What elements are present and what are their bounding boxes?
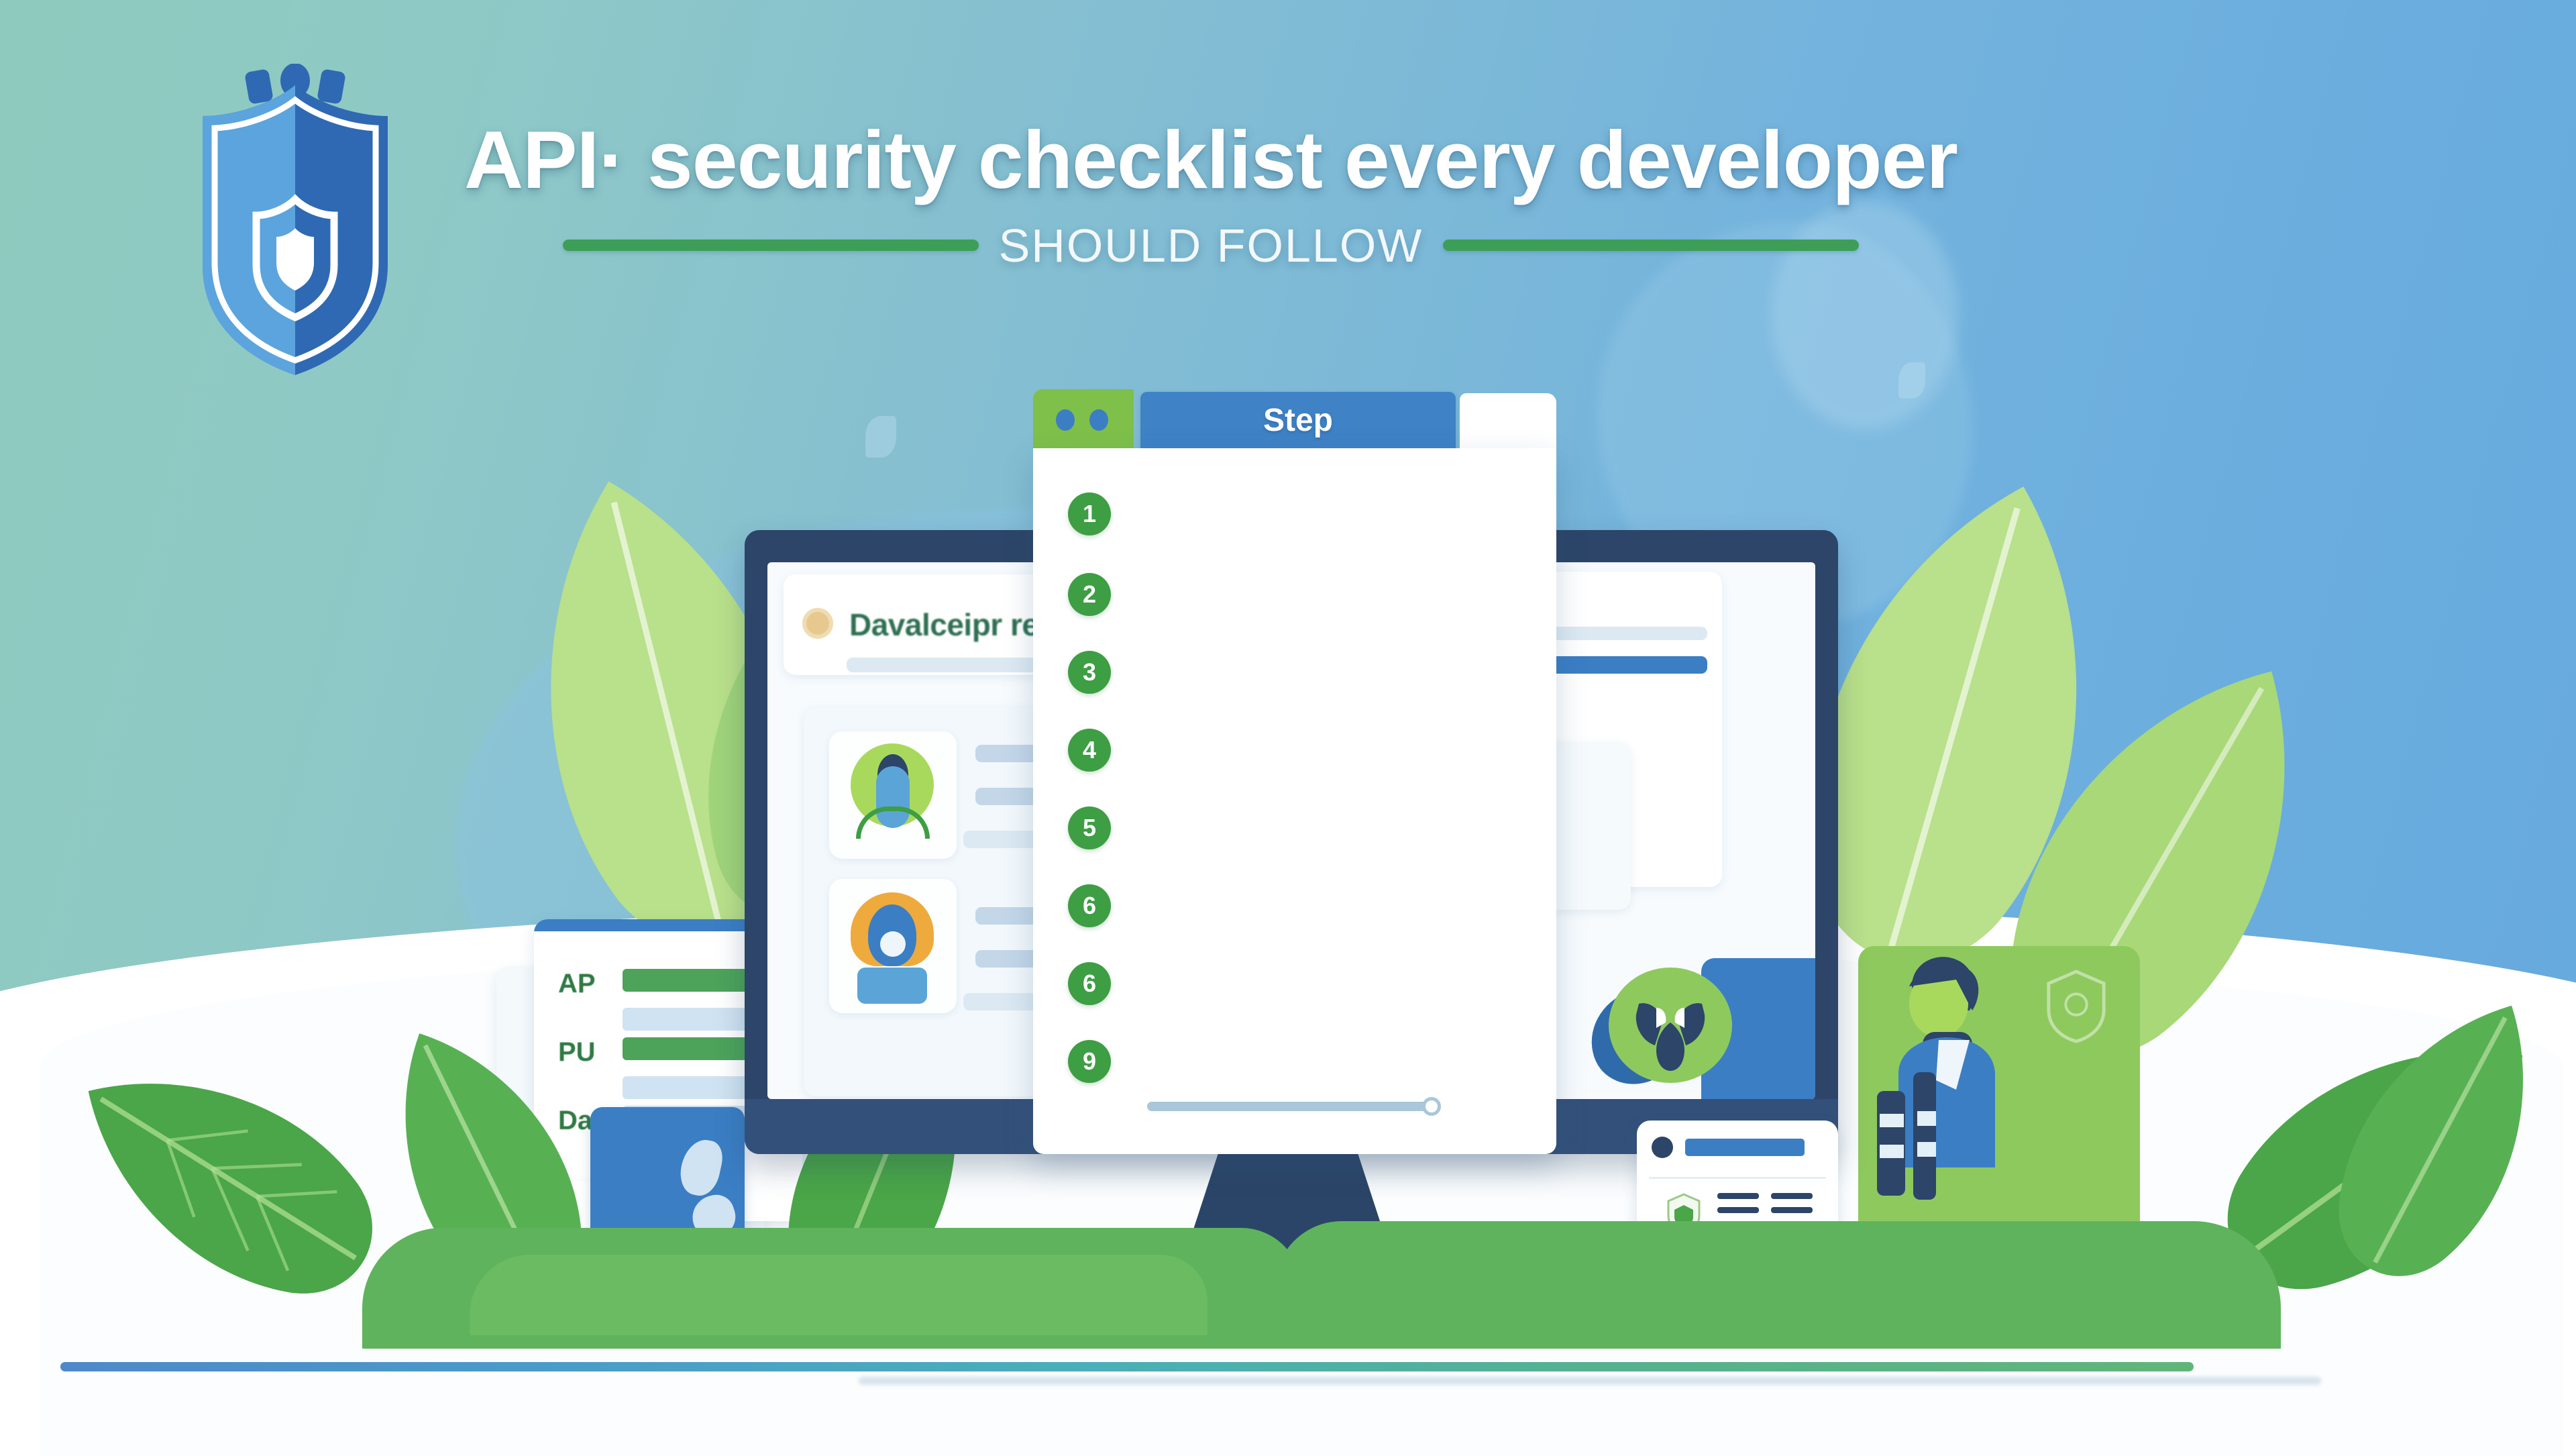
title-rule-left xyxy=(563,240,979,251)
avatar-row-1 xyxy=(829,731,957,859)
leaf-accent-1 xyxy=(676,1136,726,1199)
security-card-line xyxy=(1771,1193,1813,1199)
background-speck-1 xyxy=(865,416,896,458)
step-card-body: 1 2 3 4 5 6 6 9 xyxy=(1033,448,1556,1154)
page-title: API· security checklist every developer xyxy=(463,117,1959,203)
window-dot-2-icon xyxy=(1089,409,1108,431)
security-card-line xyxy=(1717,1207,1759,1213)
security-card-line xyxy=(1771,1207,1813,1213)
foreground-grass-right xyxy=(1275,1221,2281,1349)
green-pin-badge-icon xyxy=(1607,966,1734,1087)
step-number-label: 1 xyxy=(1083,500,1096,528)
step-number-badge[interactable]: 9 xyxy=(1068,1040,1111,1083)
step-number-badge[interactable]: 4 xyxy=(1068,729,1111,772)
step-number-badge[interactable]: 3 xyxy=(1068,651,1111,694)
subtitle-row: SHOULD FOLLOW xyxy=(463,215,1959,276)
security-card-divider xyxy=(1649,1177,1826,1179)
page-subtitle: SHOULD FOLLOW xyxy=(999,219,1424,272)
avatar-row-2 xyxy=(829,879,957,1013)
step-number-badge[interactable]: 6 xyxy=(1068,884,1111,927)
step-number-badge[interactable]: 5 xyxy=(1068,807,1111,849)
window-dot-1-icon xyxy=(1056,409,1075,431)
step-number-label: 6 xyxy=(1083,892,1096,920)
tab-spacer xyxy=(1460,393,1556,451)
avatar-body-icon xyxy=(857,968,927,1004)
background-speck-2 xyxy=(1898,362,1925,399)
step-number-badge[interactable]: 1 xyxy=(1068,492,1111,535)
step-number-label: 4 xyxy=(1083,736,1096,764)
security-card-title-bar xyxy=(1685,1139,1805,1156)
step-number-label: 9 xyxy=(1083,1047,1096,1076)
ground-line xyxy=(60,1362,2194,1371)
record-dot-icon xyxy=(1652,1137,1673,1158)
title-block: API· security checklist every developer … xyxy=(463,117,1959,276)
status-dot-icon xyxy=(802,608,833,639)
doc-label-api: AP xyxy=(558,969,596,999)
step-number-label: 5 xyxy=(1083,814,1096,842)
step-number-label: 3 xyxy=(1083,658,1096,686)
ground-line-shadow xyxy=(859,1377,2321,1385)
step-number-label: 6 xyxy=(1083,970,1096,998)
tab-step[interactable]: Step xyxy=(1140,392,1456,448)
step-card-tabbar: Step xyxy=(1033,389,1556,451)
progress-slider[interactable] xyxy=(1147,1102,1436,1111)
progress-slider-knob[interactable] xyxy=(1422,1097,1441,1116)
step-number-badge[interactable]: 2 xyxy=(1068,573,1111,616)
foreground-grass-highlight xyxy=(470,1255,1207,1335)
step-number-label: 2 xyxy=(1083,580,1096,609)
step-number-badge[interactable]: 6 xyxy=(1068,962,1111,1005)
poster-canvas: API· security checklist every developer … xyxy=(0,0,2576,1456)
security-card-header xyxy=(1652,1137,1805,1158)
tab-step-label: Step xyxy=(1263,402,1333,439)
person-with-laptop-icon xyxy=(1838,946,2059,1261)
window-dots-tab[interactable] xyxy=(1033,389,1134,451)
security-card-line xyxy=(1717,1193,1759,1199)
step-checklist-card[interactable]: Step 1 2 3 4 5 6 6 xyxy=(1033,389,1556,1154)
title-rule-right xyxy=(1443,240,1859,251)
avatar-face-icon xyxy=(880,931,906,957)
shield-logo xyxy=(195,64,396,379)
